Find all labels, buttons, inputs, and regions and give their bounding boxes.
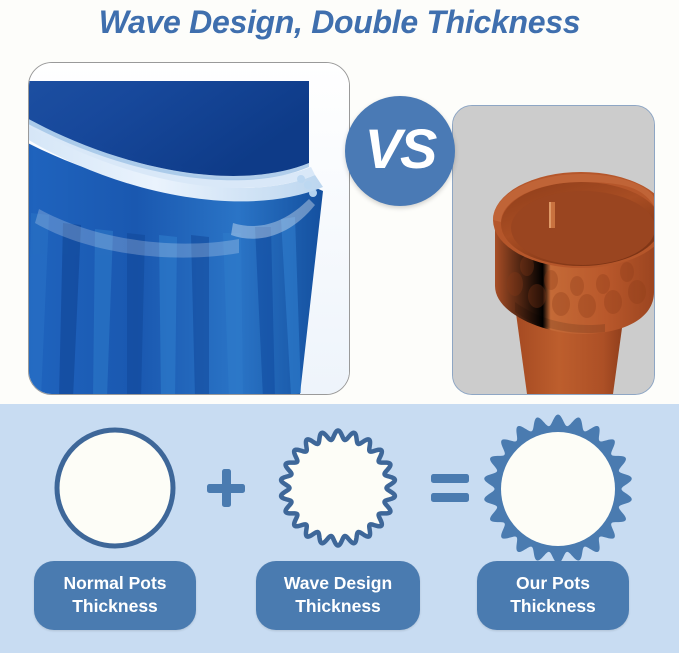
page-title: Wave Design, Double Thickness: [0, 4, 679, 41]
wave-design-shape: [278, 428, 398, 553]
vs-label: VS: [365, 121, 436, 177]
vs-badge: VS: [345, 96, 455, 206]
wave-design-label-line2: Thickness: [256, 595, 420, 618]
left-product-photo: [28, 62, 350, 395]
our-pots-shape: [483, 414, 633, 569]
smooth-circle-icon: [50, 423, 180, 553]
infographic-canvas: Wave Design, Double Thickness: [0, 0, 679, 653]
thick-wavy-ring-circle-icon: [483, 414, 633, 564]
blue-ribbed-pot-image: [28, 63, 350, 394]
right-product-photo: [452, 105, 655, 395]
equals-operator: [430, 472, 470, 511]
normal-pots-label: Normal Pots Thickness: [34, 561, 196, 630]
formula-section: Normal Pots Thickness Wave Design Thickn…: [0, 404, 679, 653]
wave-design-label-line1: Wave Design: [256, 572, 420, 595]
wave-design-label: Wave Design Thickness: [256, 561, 420, 630]
normal-pots-shape: [50, 423, 180, 558]
our-pots-label: Our Pots Thickness: [477, 561, 629, 630]
wavy-circle-icon: [278, 428, 398, 548]
normal-pots-label-line2: Thickness: [34, 595, 196, 618]
normal-pots-label-line1: Normal Pots: [34, 572, 196, 595]
equals-icon: [430, 472, 470, 506]
comparison-section: Wave Design, Double Thickness: [0, 0, 679, 404]
our-pots-label-line2: Thickness: [477, 595, 629, 618]
our-pots-label-line1: Our Pots: [477, 572, 629, 595]
terracotta-pot-image: [453, 106, 654, 394]
plus-icon: [206, 468, 246, 508]
plus-operator: [206, 468, 246, 513]
